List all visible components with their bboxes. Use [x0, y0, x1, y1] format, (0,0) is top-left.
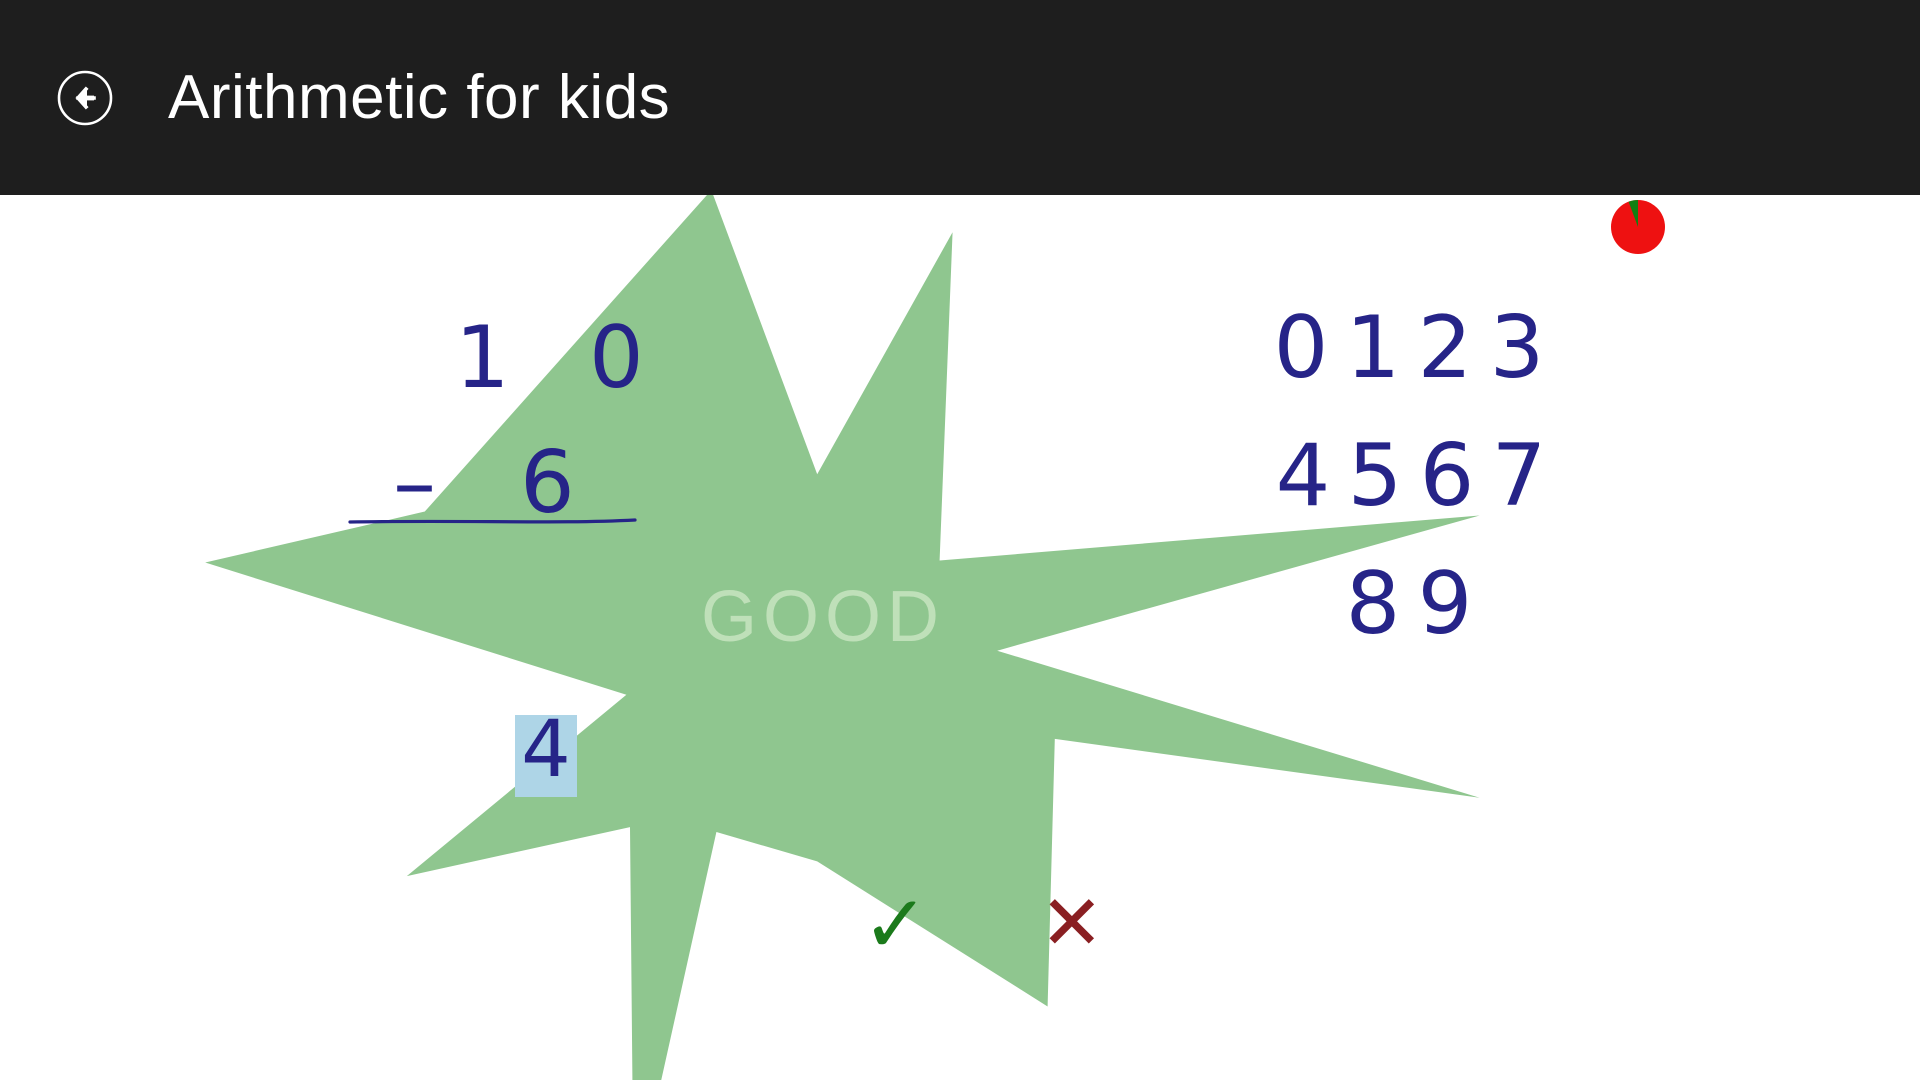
- digit-key-4[interactable]: 4: [1267, 433, 1339, 519]
- digit-key-2[interactable]: 2: [1409, 305, 1481, 391]
- digit-palette-row: 8 9: [1337, 561, 1605, 647]
- digit-key-6[interactable]: 6: [1411, 433, 1483, 519]
- problem-operand-top: 1 0: [455, 315, 670, 401]
- digit-palette-row: 4 5 6 7: [1267, 433, 1605, 519]
- digit-key-5[interactable]: 5: [1339, 433, 1411, 519]
- digit-key-3[interactable]: 3: [1481, 305, 1553, 391]
- digit-key-9[interactable]: 9: [1409, 561, 1481, 647]
- digit-key-8[interactable]: 8: [1337, 561, 1409, 647]
- drawing-board[interactable]: GOOD 1 0 – 6 4 0 1 2 3 4 5 6 7 8 9 ✓ ✕: [0, 195, 1920, 1080]
- digit-key-1[interactable]: 1: [1337, 305, 1409, 391]
- wrong-cross-icon[interactable]: ✕: [1040, 885, 1104, 961]
- problem-operand-bottom: 6: [520, 440, 575, 526]
- page-title: Arithmetic for kids: [168, 67, 670, 129]
- app-header: Arithmetic for kids: [0, 0, 1920, 195]
- pie-timer-icon[interactable]: [1608, 197, 1668, 257]
- digit-palette[interactable]: 0 1 2 3 4 5 6 7 8 9: [1265, 305, 1605, 647]
- answer-digit: 4: [515, 711, 577, 789]
- digit-palette-row: 0 1 2 3: [1265, 305, 1605, 391]
- digit-key-0[interactable]: 0: [1265, 305, 1337, 391]
- digit-key-7[interactable]: 7: [1483, 433, 1555, 519]
- correct-check-icon[interactable]: ✓: [862, 885, 929, 965]
- board-canvas: [0, 195, 1920, 1080]
- problem-operator: –: [393, 440, 436, 526]
- back-arrow-circle-icon[interactable]: [54, 67, 116, 129]
- answer-slot[interactable]: 4: [515, 715, 577, 797]
